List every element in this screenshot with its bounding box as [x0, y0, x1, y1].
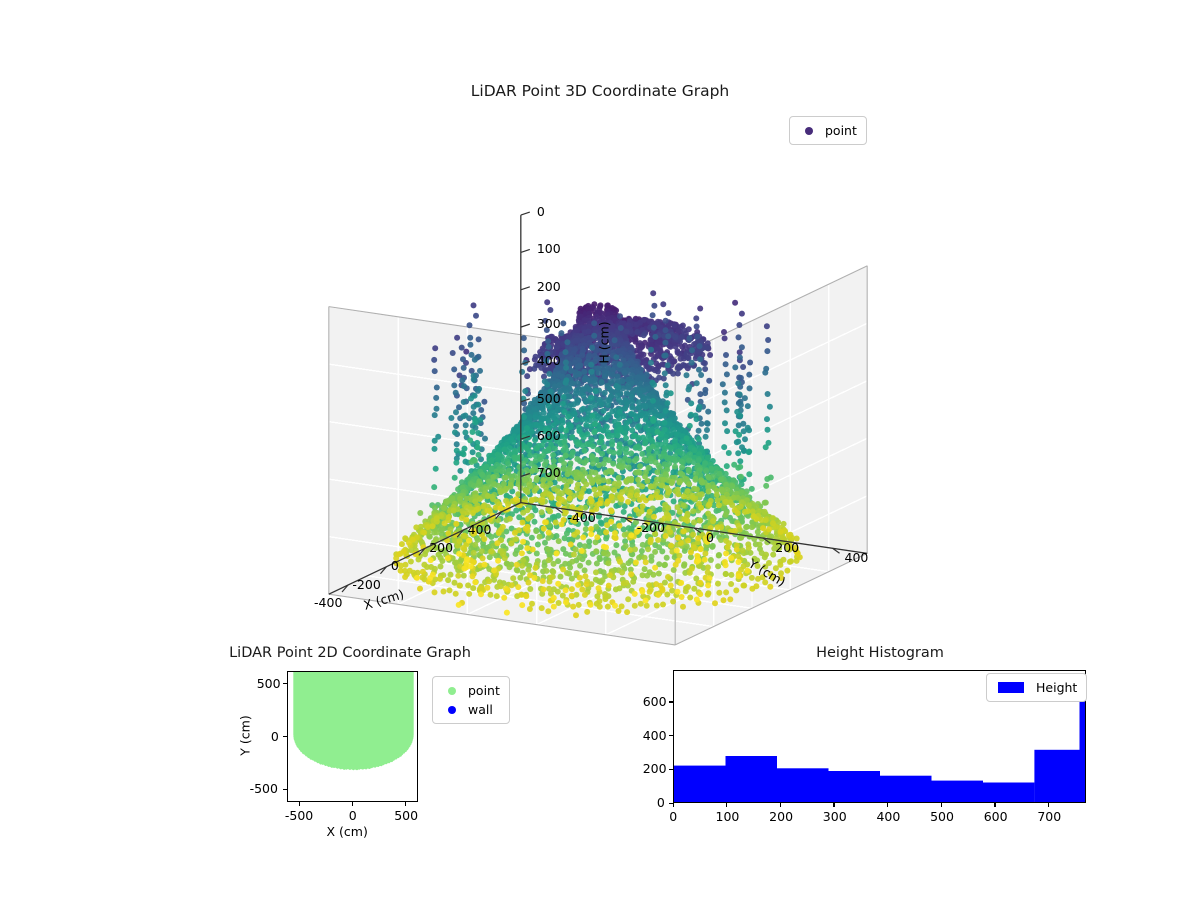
- histogram-x-tick: 300: [823, 809, 847, 824]
- plot2d-x-tick: -500: [285, 808, 313, 823]
- histogram-x-tickmark: [1048, 803, 1049, 807]
- point-marker-icon: [448, 687, 456, 695]
- plot2d-y-tickmark: [283, 683, 287, 684]
- legend-label-wall: wall: [468, 700, 493, 719]
- histogram-x-tickmark: [941, 803, 942, 807]
- plot3d-h-tick: 100: [537, 241, 561, 256]
- histogram-x-tick: 0: [669, 809, 677, 824]
- histogram-y-tick: 400: [643, 728, 667, 743]
- plot2d-x-tickmark: [352, 802, 353, 806]
- plot2d-y-tickmark: [283, 789, 287, 790]
- legend-label-point: point: [468, 681, 500, 700]
- histogram-x-tickmark: [887, 803, 888, 807]
- plot3d-h-axis-label: H (cm): [596, 321, 611, 363]
- plot2d-x-tick: 0: [349, 808, 357, 823]
- plot3d-y-tick: 200: [775, 540, 799, 555]
- plot3d-x-tick: -200: [352, 577, 380, 592]
- histogram-y-tick: 200: [643, 761, 667, 776]
- plot3d-h-tick: 0: [537, 204, 545, 219]
- plot3d-h-tick: 300: [537, 316, 561, 331]
- legend-item-height[interactable]: Height: [996, 678, 1077, 697]
- histogram-x-tick: 100: [716, 809, 740, 824]
- histogram-y-tick: 600: [643, 694, 667, 709]
- legend-item-wall[interactable]: wall: [442, 700, 500, 719]
- histogram-y-tickmark: [669, 769, 673, 770]
- plot3d-h-tick: 600: [537, 428, 561, 443]
- plot3d-y-tick: -400: [567, 510, 595, 525]
- histogram-y-tick: 0: [657, 795, 665, 810]
- histogram-x-tickmark: [726, 803, 727, 807]
- plot3d-x-tick: -400: [314, 595, 342, 610]
- histogram-legend[interactable]: Height: [986, 673, 1087, 702]
- histogram-x-tick: 200: [769, 809, 793, 824]
- wall-marker-icon: [448, 706, 456, 714]
- plot3d-title: LiDAR Point 3D Coordinate Graph: [0, 82, 1200, 100]
- plot3d-y-tick: 0: [706, 530, 714, 545]
- plot2d-y-axis-label: Y (cm): [238, 705, 253, 765]
- histogram-x-tick: 500: [930, 809, 954, 824]
- histogram-x-tickmark: [833, 803, 834, 807]
- plot3d-h-tick: 400: [537, 353, 561, 368]
- plot3d-axes[interactable]: H (cm) X (cm) Y (cm) 0100200300400500600…: [330, 130, 890, 630]
- plot3d-x-tick: 0: [391, 558, 399, 573]
- plot3d-h-tick: 700: [537, 465, 561, 480]
- histogram-y-tickmark: [669, 701, 673, 702]
- histogram-y-tickmark: [669, 735, 673, 736]
- histogram-x-tick: 600: [984, 809, 1008, 824]
- histogram-y-tickmark: [669, 803, 673, 804]
- legend-item-point[interactable]: point: [442, 681, 500, 700]
- histogram-title: Height Histogram: [720, 645, 1040, 661]
- histogram-x-tick: 400: [876, 809, 900, 824]
- plot3d-x-tick: 200: [429, 540, 453, 555]
- plot3d-h-tick: 500: [537, 391, 561, 406]
- plot3d-x-tick: 400: [468, 522, 492, 537]
- histogram-x-tickmark: [994, 803, 995, 807]
- figure-canvas: LiDAR Point 3D Coordinate Graph point H …: [0, 0, 1200, 900]
- histogram-x-tickmark: [780, 803, 781, 807]
- plot3d-y-tick: -200: [637, 520, 665, 535]
- plot2d-y-tick: 500: [257, 676, 281, 691]
- plot2d-x-tickmark: [405, 802, 406, 806]
- plot2d-y-tick: -500: [250, 781, 278, 796]
- plot2d-title: LiDAR Point 2D Coordinate Graph: [200, 645, 500, 661]
- histogram-x-tick: 700: [1037, 809, 1061, 824]
- plot3d-h-tick: 200: [537, 279, 561, 294]
- plot2d-legend[interactable]: point wall: [432, 676, 510, 724]
- plot2d-y-tickmark: [283, 736, 287, 737]
- height-bar-icon: [998, 682, 1024, 693]
- plot2d-axes[interactable]: [287, 671, 418, 802]
- plot2d-y-tick: 0: [271, 729, 279, 744]
- legend-label-height: Height: [1036, 678, 1077, 697]
- plot2d-x-tick: 500: [394, 808, 418, 823]
- plot2d-x-axis-label: X (cm): [327, 824, 368, 839]
- plot2d-x-tickmark: [299, 802, 300, 806]
- plot3d-y-tick: 400: [845, 550, 869, 565]
